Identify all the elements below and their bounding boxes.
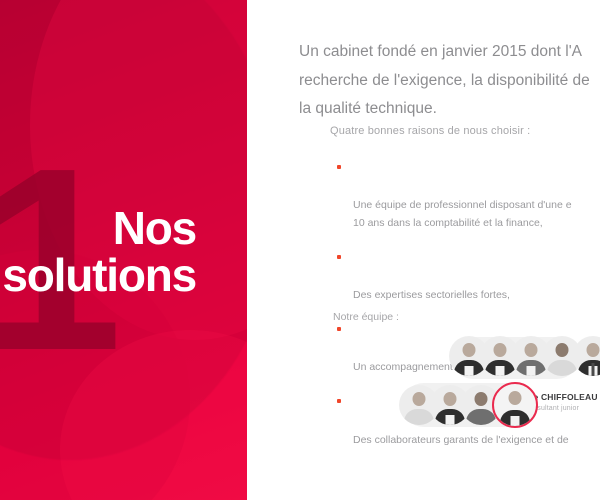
avatar-shirt xyxy=(446,415,455,425)
avatar-shirt xyxy=(496,366,505,376)
avatar-head xyxy=(509,391,522,405)
bullet-dot-icon xyxy=(337,255,341,259)
avatar-head xyxy=(556,343,569,357)
bullet-dot-icon xyxy=(337,327,341,331)
list-item: Une équipe de professionnel disposant d'… xyxy=(337,160,600,232)
avatar-body xyxy=(466,409,496,425)
intro-line-1: Un cabinet fondé en janvier 2015 dont l'… xyxy=(299,38,600,67)
reasons-label: Quatre bonnes raisons de nous choisir : xyxy=(330,125,530,137)
intro-paragraph: Un cabinet fondé en janvier 2015 dont l'… xyxy=(299,38,600,124)
intro-line-2: recherche de l'exigence, la disponibilit… xyxy=(299,67,600,96)
team-portrait[interactable] xyxy=(573,336,600,376)
list-item-text: Des collaborateurs garants de l'exigence… xyxy=(353,434,569,446)
list-item-text: Des expertises sectorielles fortes, xyxy=(353,289,510,301)
avatar-shirt xyxy=(527,366,536,376)
avatar-shirt xyxy=(465,366,474,376)
avatar-tie xyxy=(592,363,595,376)
bullet-dot-icon xyxy=(337,399,341,403)
avatar-head xyxy=(525,343,538,357)
left-red-panel: 1 Nos solutions xyxy=(0,0,247,500)
avatar-shirt xyxy=(511,416,520,428)
avatar-head xyxy=(444,392,457,406)
avatar-head xyxy=(494,343,507,357)
team-portrait-highlighted[interactable] xyxy=(492,382,538,428)
avatar-body xyxy=(404,409,434,425)
page-title: Nos solutions xyxy=(0,205,196,299)
intro-line-3: la qualité technique. xyxy=(299,95,600,124)
avatar-head xyxy=(587,343,600,357)
team-row-bottom xyxy=(399,382,538,428)
list-item-text: Une équipe de professionnel disposant d'… xyxy=(353,199,572,229)
team-label: Notre équipe : xyxy=(333,311,399,323)
list-item: Des expertises sectorielles fortes, xyxy=(337,250,600,304)
content-pane: Un cabinet fondé en janvier 2015 dont l'… xyxy=(247,0,600,500)
avatar-head xyxy=(413,392,426,406)
avatar-body xyxy=(547,360,577,376)
bullet-dot-icon xyxy=(337,165,341,169)
avatar-head xyxy=(463,343,476,357)
team-row-top xyxy=(449,336,600,376)
avatar-head xyxy=(475,392,488,406)
